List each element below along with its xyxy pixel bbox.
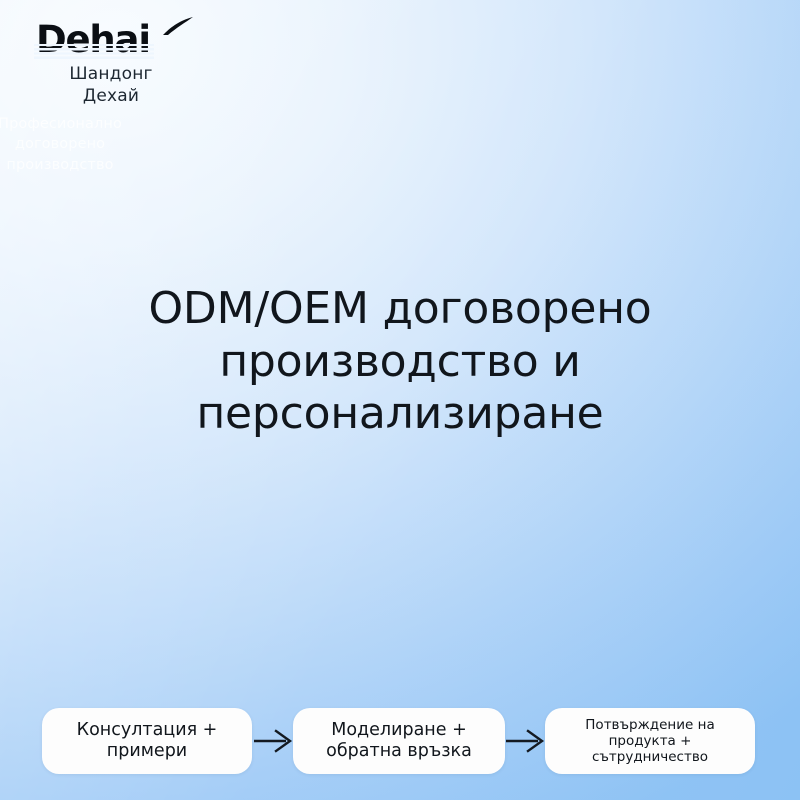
page-title-line3: персонализиране <box>90 388 710 440</box>
corner-note: Професионално договорено производство <box>0 114 144 176</box>
brand-wordmark: Dehai <box>36 18 150 62</box>
page-title-line1: ODM/OEM договорено <box>90 283 710 335</box>
flow-row-1: Консултация + примери Моделиране + обрат… <box>0 700 800 786</box>
corner-note-line2: договорено <box>0 134 144 155</box>
flow-node-line1: Консултация + <box>77 720 218 741</box>
page-title-line2: производство и <box>90 336 710 388</box>
logo-swoosh-icon <box>162 16 196 36</box>
brand-block: Dehai Шандонг Дехай <box>36 18 256 108</box>
flow-node-line2: обратна връзка <box>326 741 472 762</box>
flow-node-consultation[interactable]: Консултация + примери <box>42 708 252 774</box>
flow-node-modeling[interactable]: Моделиране + обратна връзка <box>293 708 505 774</box>
brand-subtitle-line2: Дехай <box>36 86 186 108</box>
corner-note-line3: производство <box>0 155 144 176</box>
flow-node-line2: примери <box>77 741 218 762</box>
flow-node-line1: Моделиране + <box>326 720 472 741</box>
page-title: ODM/OEM договорено производство и персон… <box>90 283 710 440</box>
poster-canvas: Dehai Шандонг Дехай Професионално догово… <box>0 0 800 800</box>
process-flow-diagram: Консултация + примери Моделиране + обрат… <box>0 700 800 800</box>
flow-node-product-confirmation[interactable]: Потвърждение на продукта + сътрудничеств… <box>545 708 755 774</box>
arrow-right-icon <box>504 728 548 754</box>
flow-row-spacer <box>0 786 800 800</box>
flow-node-line2: продукта + сътрудничество <box>555 733 745 765</box>
brand-subtitle: Шандонг Дехай <box>36 64 186 108</box>
dehai-logo: Dehai <box>36 18 196 62</box>
corner-note-line1: Професионално <box>0 114 144 135</box>
brand-subtitle-line1: Шандонг <box>36 64 186 86</box>
flow-node-line1: Потвърждение на <box>555 717 745 733</box>
arrow-right-icon <box>252 728 296 754</box>
